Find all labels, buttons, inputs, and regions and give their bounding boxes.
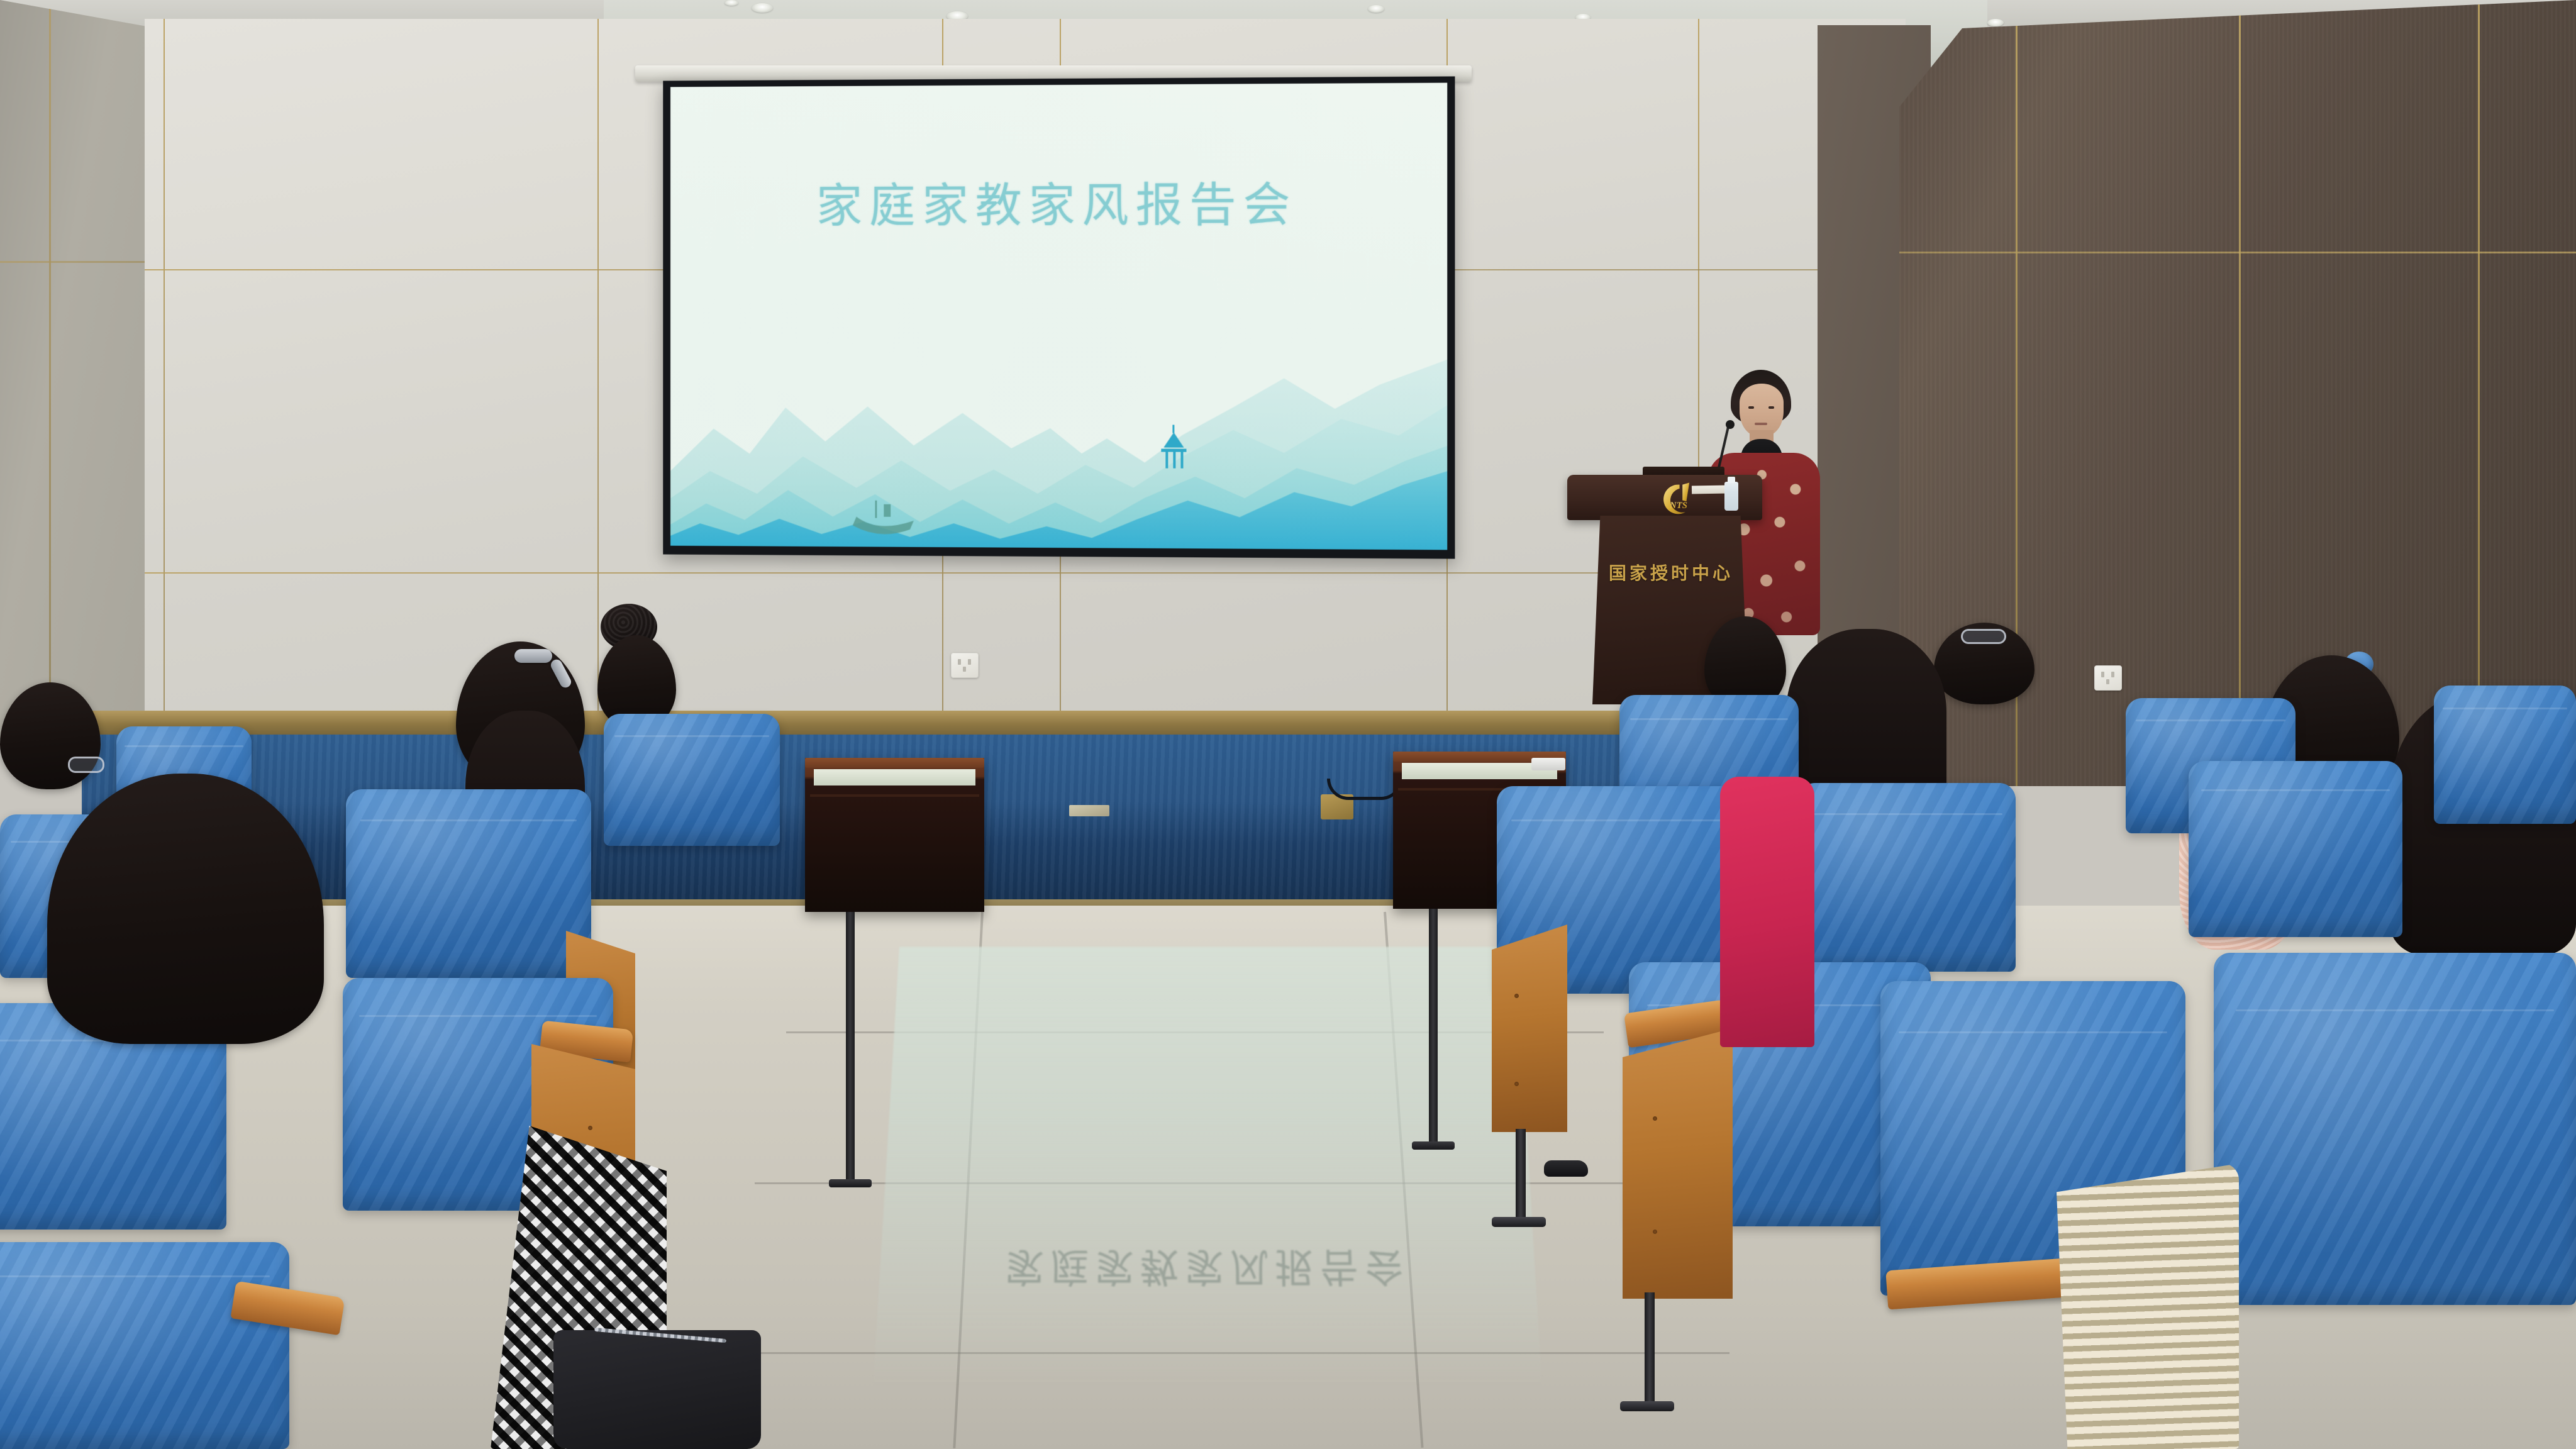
lecture-hall-photo: 家庭家教家风报告会 [0,0,2576,1449]
slide-canvas: 家庭家教家风报告会 [670,83,1447,550]
ceiling-downlight [1987,19,2004,26]
desk-left-leg [846,912,855,1182]
glasses-icon [1961,629,2006,644]
seat-right-row1-side-panel [1623,1028,1733,1299]
ceiling-downlight [752,3,773,13]
svg-text:NTS: NTS [1669,501,1687,511]
desk-right-leg [1429,909,1438,1145]
seat-right-row2-side-panel [1492,924,1567,1132]
nts-logo-icon: NTS [1654,482,1703,517]
hair-clip-icon [514,649,552,663]
attendee-right-striped-top [2057,1163,2239,1449]
handbag [553,1330,761,1449]
floor-reflection-of-slide: 家庭家教家风报告会 [873,947,1541,1385]
wall-left [0,0,157,742]
attendee-right-pink-jacket [1720,777,1814,1047]
seat-right-row2-base [1492,1217,1546,1227]
seat-right-row2-b[interactable] [1799,783,2016,972]
attendee-shoe [1544,1160,1588,1177]
glasses-icon [68,757,104,773]
speaker-face [1740,384,1784,436]
seat-right-row2-c[interactable] [2189,761,2402,937]
desk-left-foot [829,1179,872,1187]
ceiling-downlight [1368,5,1384,13]
desk-right-foot [1412,1141,1455,1150]
water-bottle [1724,482,1738,511]
wall-outlet-left [951,653,979,678]
seat-left-row3-b[interactable] [604,714,780,846]
slide-artwork-mountains [670,284,1447,550]
stage-cable [1327,779,1402,800]
microphone-head-icon [1726,420,1735,429]
ceiling-downlight [724,0,738,6]
floor-reflection-title: 家庭家教家风报告会 [879,1241,1537,1298]
seat-right-row1-post [1645,1292,1655,1406]
desk-phone-handset[interactable] [1531,758,1565,770]
seat-right-row2-post [1516,1129,1526,1223]
desk-left [805,758,984,912]
podium-venue-label: 国家授时中心 [1592,560,1750,585]
slide-title: 家庭家教家风报告会 [670,167,1447,236]
seat-right-row3-c[interactable] [2434,686,2576,824]
projector-screen: 家庭家教家风报告会 [663,76,1455,558]
seat-left-row0-a[interactable] [0,1242,289,1449]
wall-outlet-right [2094,665,2122,691]
seat-right-row1-base [1620,1401,1674,1411]
stage-small-label [1069,805,1109,816]
seat-left-row2-b[interactable] [346,789,591,978]
seat-right-row0-b[interactable] [2214,953,2576,1305]
